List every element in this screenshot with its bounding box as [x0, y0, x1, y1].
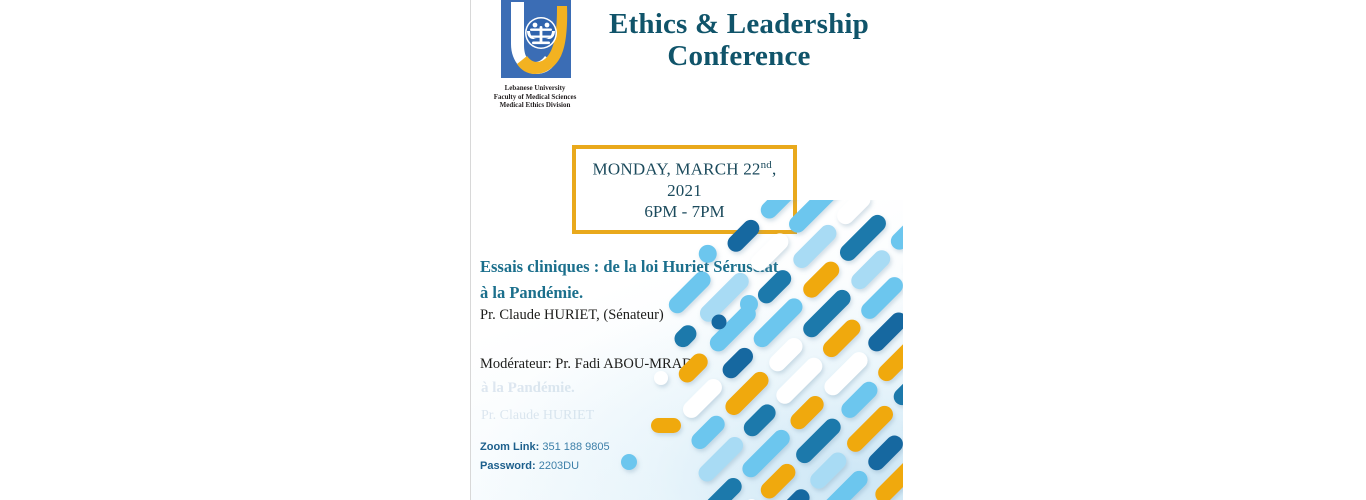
zoom-password-value[interactable]: 2203DU [539, 460, 579, 472]
decorative-puzzle-graphic [603, 200, 903, 500]
speaker-name: Pr. Claude HURIET, (Sénateur) [480, 307, 664, 324]
talk-title: Essais cliniques : de la loi Huriet Séru… [480, 254, 875, 306]
ghost-text-line-2: Pr. Claude HURIET [481, 408, 594, 424]
document-viewer: Lebanese University Faculty of Medical S… [0, 0, 1366, 500]
zoom-password-label: Password: [480, 460, 536, 472]
talk-title-line-1: Essais cliniques : de la loi Huriet Séru… [480, 254, 875, 280]
event-date: MONDAY, MARCH 22nd, 2021 [580, 155, 789, 201]
zoom-password-row: Password: 2203DU [480, 457, 610, 476]
conference-title-line-2: Conference [575, 40, 903, 72]
flyer-header: Lebanese University Faculty of Medical S… [471, 0, 903, 120]
ghost-text-line-1: à la Pandémie. [481, 380, 575, 397]
conference-title-line-1: Ethics & Leadership [575, 8, 903, 40]
zoom-link-label: Zoom Link: [480, 441, 539, 453]
date-time-box: MONDAY, MARCH 22nd, 2021 6PM - 7PM [572, 145, 797, 234]
event-date-ordinal: nd [761, 159, 772, 171]
logo-caption-line-1: Lebanese University [479, 84, 591, 93]
flyer-page: Lebanese University Faculty of Medical S… [470, 0, 903, 500]
logo-caption: Lebanese University Faculty of Medical S… [479, 84, 591, 110]
conference-title: Ethics & Leadership Conference [575, 8, 903, 72]
logo-caption-line-2: Faculty of Medical Sciences [479, 93, 591, 102]
zoom-link-row: Zoom Link: 351 188 9805 [480, 438, 610, 457]
talk-title-line-2: à la Pandémie. [480, 280, 875, 306]
university-logo-icon [489, 0, 581, 82]
event-time: 6PM - 7PM [580, 201, 789, 222]
logo-caption-line-3: Medical Ethics Division [479, 101, 591, 110]
event-date-prefix: MONDAY, MARCH 22 [593, 160, 761, 179]
zoom-link-value[interactable]: 351 188 9805 [542, 441, 609, 453]
zoom-access-block: Zoom Link: 351 188 9805 Password: 2203DU [480, 438, 610, 476]
moderator-name: Modérateur: Pr. Fadi ABOU-MRAD [480, 356, 693, 373]
